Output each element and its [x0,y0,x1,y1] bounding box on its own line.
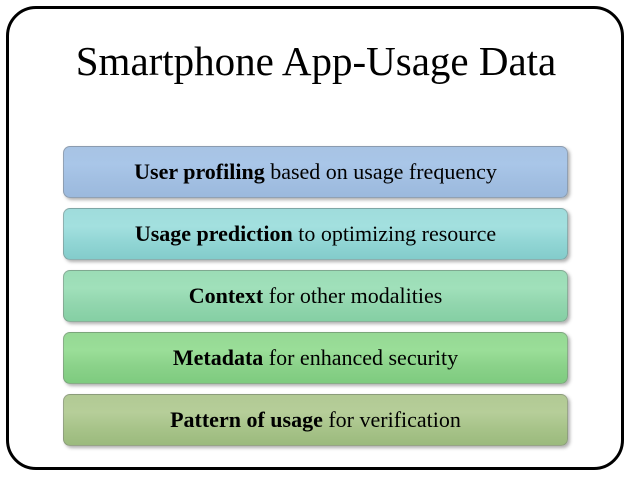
bar-rest-text: to optimizing resource [293,221,496,246]
bar-lead-text: Metadata [173,345,263,370]
page-title: Smartphone App-Usage Data [0,40,632,83]
bar-usage-prediction[interactable]: Usage prediction to optimizing resource [63,208,568,260]
bar-list: User profiling based on usage frequency … [63,146,568,446]
bar-label: Context for other modalities [189,285,443,307]
slide-canvas: Smartphone App-Usage Data User profiling… [0,0,632,478]
bar-lead-text: Usage prediction [135,221,293,246]
bar-label: Usage prediction to optimizing resource [135,223,496,245]
bar-lead-text: Context [189,283,264,308]
bar-rest-text: for verification [323,407,461,432]
bar-rest-text: for other modalities [263,283,442,308]
bar-rest-text: for enhanced security [263,345,458,370]
bar-pattern-of-usage[interactable]: Pattern of usage for verification [63,394,568,446]
bar-label: Metadata for enhanced security [173,347,458,369]
bar-label: User profiling based on usage frequency [134,161,497,183]
bar-lead-text: Pattern of usage [170,407,323,432]
bar-rest-text: based on usage frequency [265,159,497,184]
bar-context[interactable]: Context for other modalities [63,270,568,322]
bar-user-profiling[interactable]: User profiling based on usage frequency [63,146,568,198]
bar-lead-text: User profiling [134,159,265,184]
bar-label: Pattern of usage for verification [170,409,461,431]
bar-metadata[interactable]: Metadata for enhanced security [63,332,568,384]
